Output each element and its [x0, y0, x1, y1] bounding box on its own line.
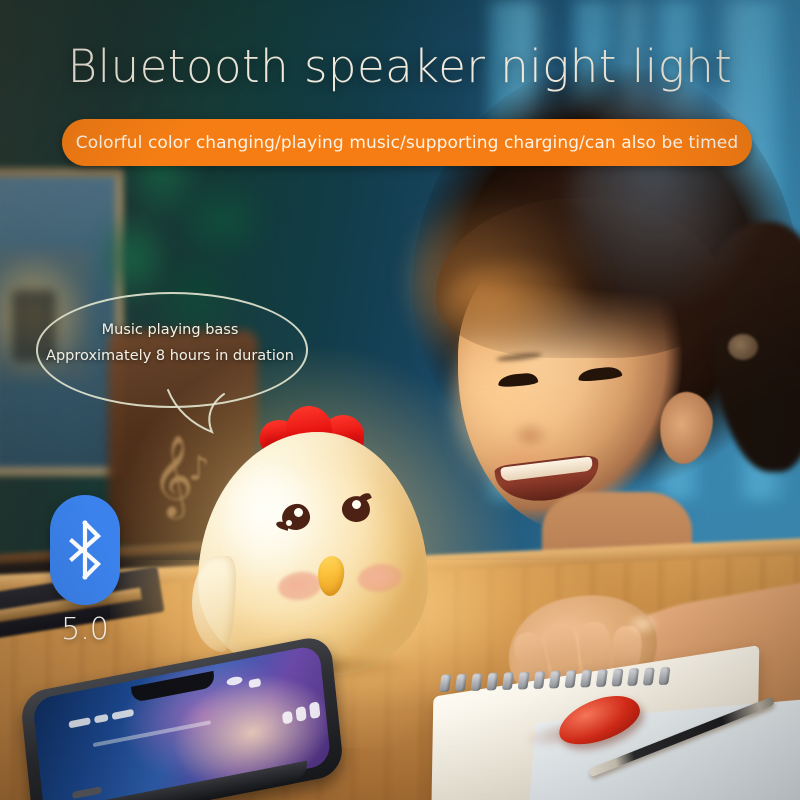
bluetooth-icon	[65, 519, 105, 581]
phone-status-widget	[112, 709, 134, 720]
chick-wing	[192, 556, 236, 652]
speech-bubble: Music playing bass Approximately 8 hours…	[36, 292, 306, 432]
spiral-coil	[658, 667, 670, 685]
spiral-coil	[643, 668, 655, 686]
spiral-coil	[533, 671, 545, 689]
chick-eye-shine	[352, 500, 361, 509]
chick-eye-shine	[294, 508, 303, 517]
hair-warm-sheen	[410, 182, 610, 382]
phone-status-widget	[94, 714, 108, 724]
spiral-coil	[486, 673, 498, 691]
spiral-coil	[471, 673, 483, 691]
phone-status-widget	[226, 675, 243, 686]
feature-banner: Colorful color changing/playing music/su…	[62, 119, 752, 166]
spiral-coil	[455, 674, 467, 692]
phone-dock-icon	[282, 711, 293, 725]
speech-bubble-line-2: Approximately 8 hours in duration	[36, 348, 304, 364]
spiral-coil	[596, 669, 608, 687]
spiral-coil	[439, 674, 451, 692]
spiral-coil	[564, 670, 576, 688]
spiral-coil	[580, 670, 592, 688]
spiral-coil	[502, 672, 514, 690]
bluetooth-badge	[50, 495, 120, 605]
phone-status-widget	[68, 717, 90, 728]
page-title: Bluetooth speaker night light	[0, 40, 800, 93]
phone-slider	[93, 720, 211, 747]
phone-dock-icon	[309, 701, 320, 719]
spiral-coil	[627, 668, 639, 686]
spiral-coil	[611, 669, 623, 687]
speech-bubble-tail	[166, 388, 246, 436]
speech-bubble-line-1: Music playing bass	[36, 322, 304, 338]
spiral-coil	[549, 671, 561, 689]
hair-tie	[728, 334, 758, 360]
product-poster: 𝄞 ♪	[0, 0, 800, 800]
bluetooth-version-label: 5.0	[50, 612, 120, 647]
chick-body-highlight	[224, 468, 320, 588]
phone-dock-icon	[295, 706, 306, 722]
chick-eye-shine	[286, 520, 292, 526]
thumb-highlight	[626, 612, 660, 636]
feature-banner-text: Colorful color changing/playing music/su…	[76, 133, 738, 153]
spiral-coil	[518, 672, 530, 690]
phone-status-widget	[248, 678, 261, 688]
